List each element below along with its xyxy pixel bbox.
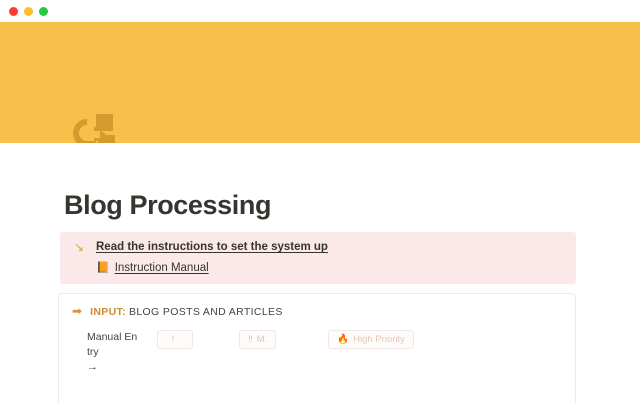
open-book-icon: 📙	[96, 261, 110, 275]
input-label: INPUT:	[90, 306, 126, 318]
manual-entry-label: Manual Entry	[87, 331, 137, 358]
priority-chip-medium[interactable]: ‼ M.	[239, 330, 276, 349]
close-window-button[interactable]	[9, 7, 18, 16]
chip-label: M.	[257, 334, 268, 345]
instructions-link-row[interactable]: ↘ Read the instructions to set the syste…	[74, 240, 562, 255]
window-titlebar	[0, 0, 640, 22]
arrow-down-right-icon: ↘	[74, 240, 96, 255]
minimize-window-button[interactable]	[24, 7, 33, 16]
priority-chip-high[interactable]: 🔥 High Priority	[328, 330, 414, 349]
fire-icon: 🔥	[337, 334, 349, 345]
instruction-manual-link[interactable]: Instruction Manual	[115, 261, 209, 275]
input-value: BLOG POSTS AND ARTICLES	[129, 306, 283, 318]
priority-chip-exclamation[interactable]: !	[157, 330, 193, 349]
exclamation-icon: !	[172, 334, 175, 345]
input-section-card: ➡ INPUT: BLOG POSTS AND ARTICLES Manual …	[58, 293, 576, 403]
input-row: Manual Entry → ! ‼ M. 🔥 High Priority	[59, 318, 575, 375]
instruction-manual-row[interactable]: 📙 Instruction Manual	[74, 261, 562, 275]
arrow-right-icon: ➡	[72, 305, 82, 318]
maximize-window-button[interactable]	[39, 7, 48, 16]
manual-entry-cell[interactable]: Manual Entry →	[87, 330, 139, 375]
page-title: Blog Processing	[64, 190, 271, 221]
instructions-callout: ↘ Read the instructions to set the syste…	[60, 232, 576, 284]
double-exclamation-icon: ‼	[248, 334, 253, 345]
page-body: Blog Processing ↘ Read the instructions …	[0, 143, 640, 400]
manual-entry-arrow-icon: →	[87, 360, 139, 375]
input-section-header: ➡ INPUT: BLOG POSTS AND ARTICLES	[59, 294, 575, 318]
chip-label: High Priority	[353, 334, 405, 345]
read-instructions-link[interactable]: Read the instructions to set the system …	[96, 240, 328, 255]
